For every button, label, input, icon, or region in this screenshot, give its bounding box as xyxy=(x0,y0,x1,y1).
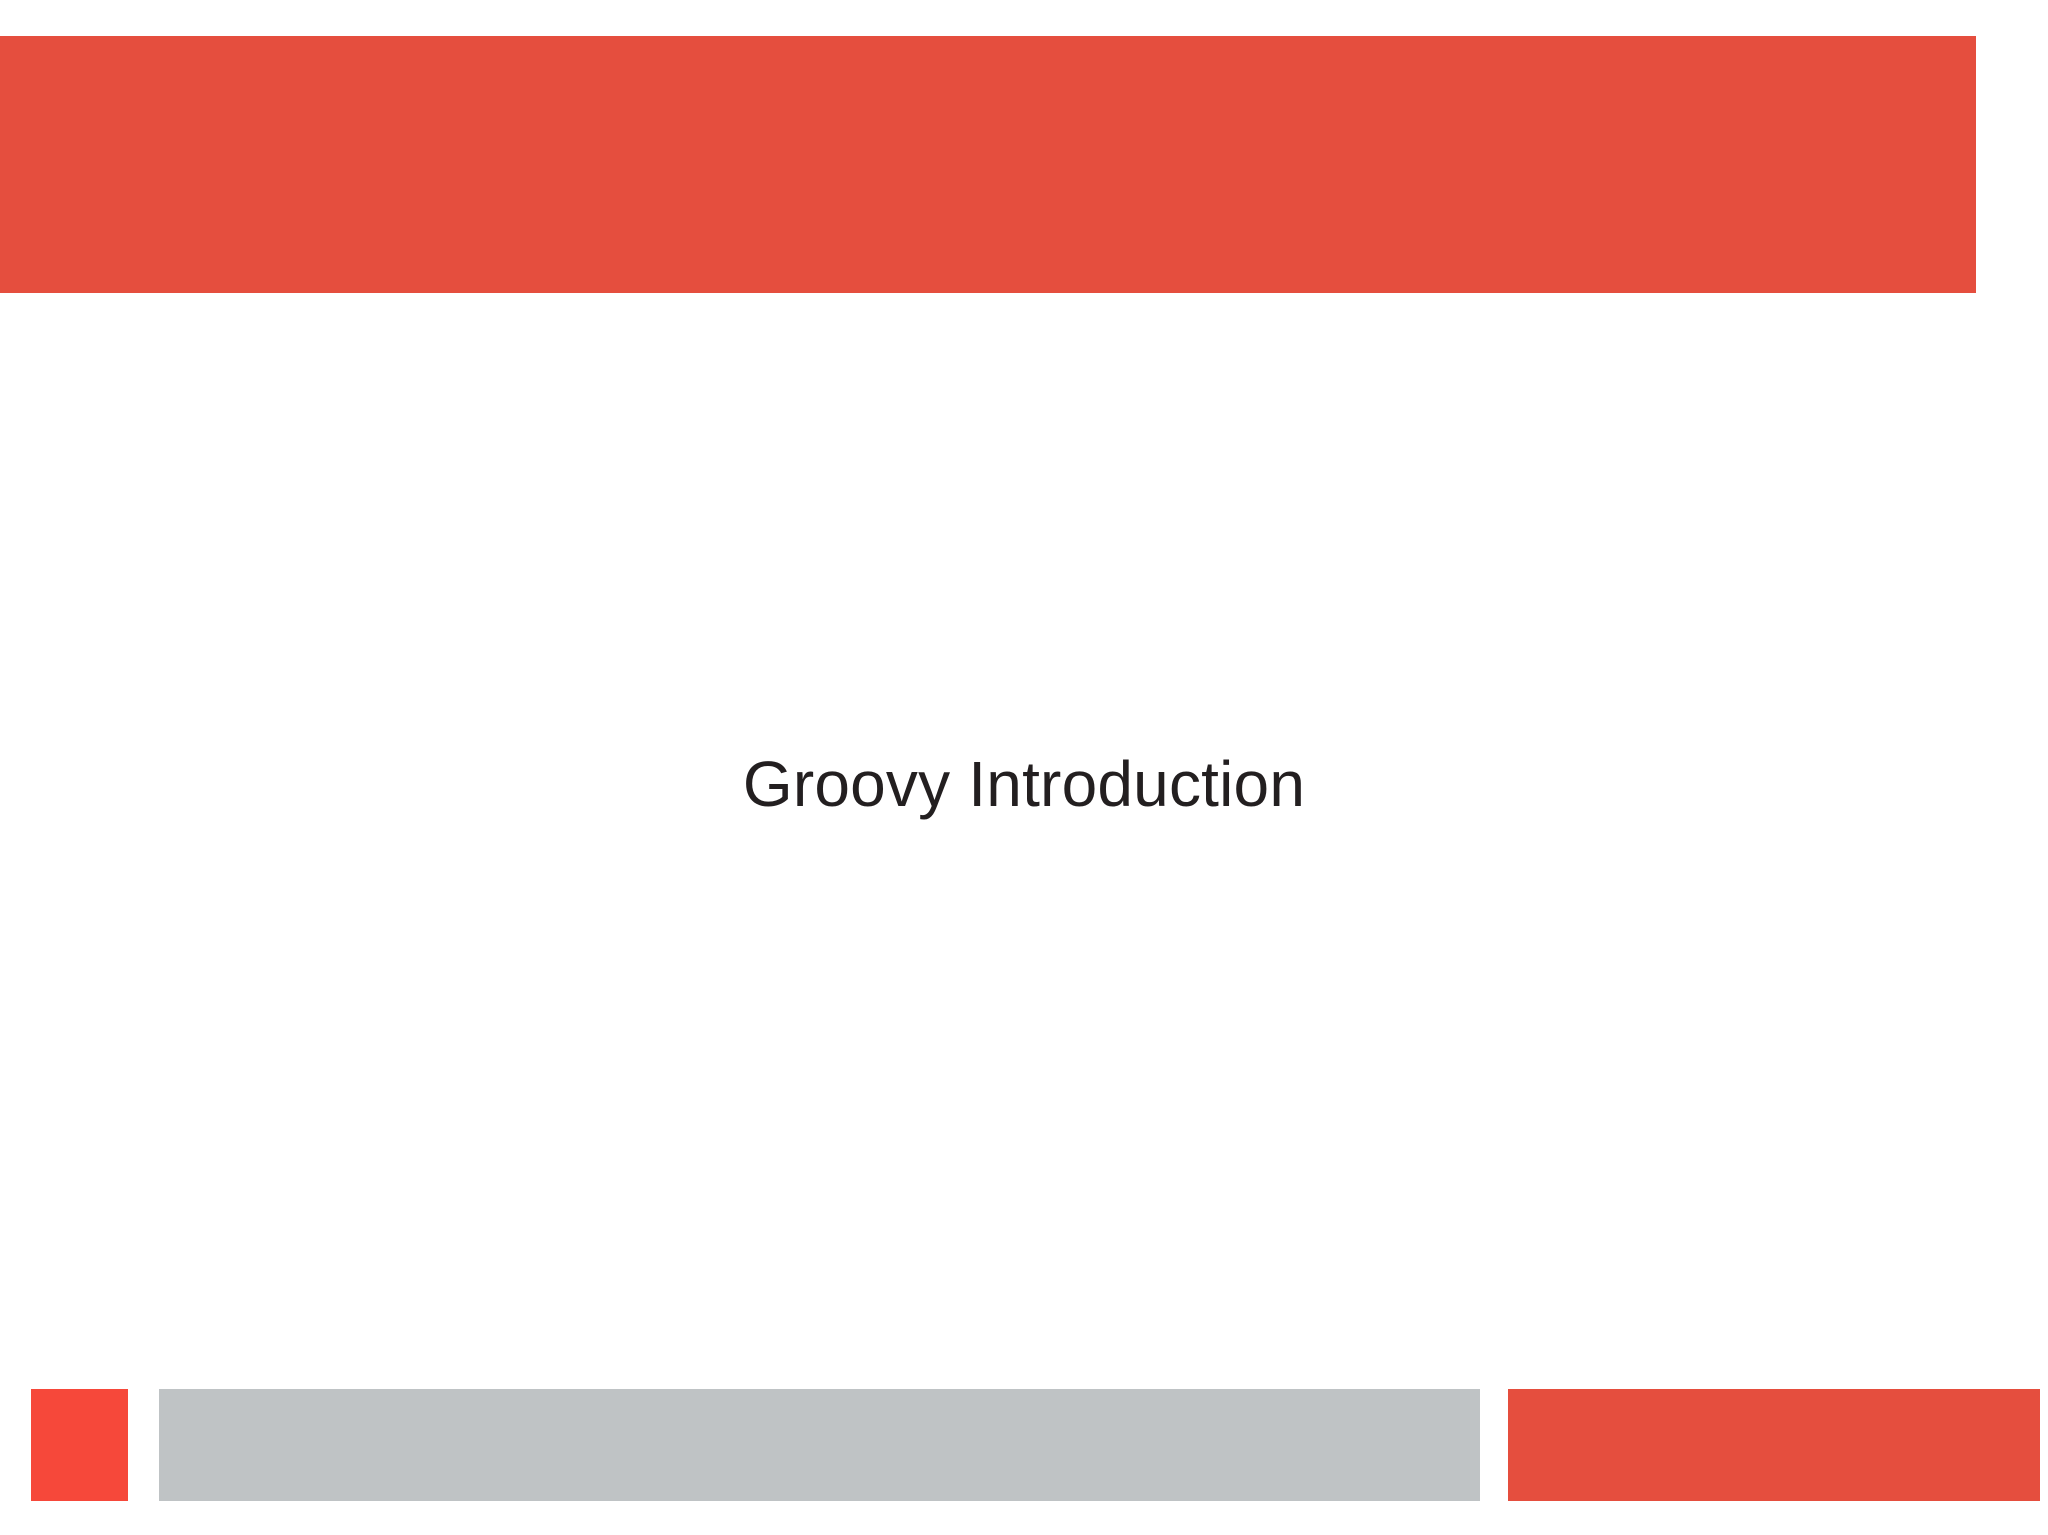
footer-decoration-strip xyxy=(0,1389,2048,1501)
footer-accent-bar xyxy=(1508,1389,2040,1501)
presentation-slide: Groovy Introduction xyxy=(0,0,2048,1535)
footer-accent-square xyxy=(31,1389,128,1501)
slide-title: Groovy Introduction xyxy=(743,746,1305,823)
footer-gray-bar xyxy=(159,1389,1480,1501)
header-accent-band xyxy=(0,36,1976,293)
